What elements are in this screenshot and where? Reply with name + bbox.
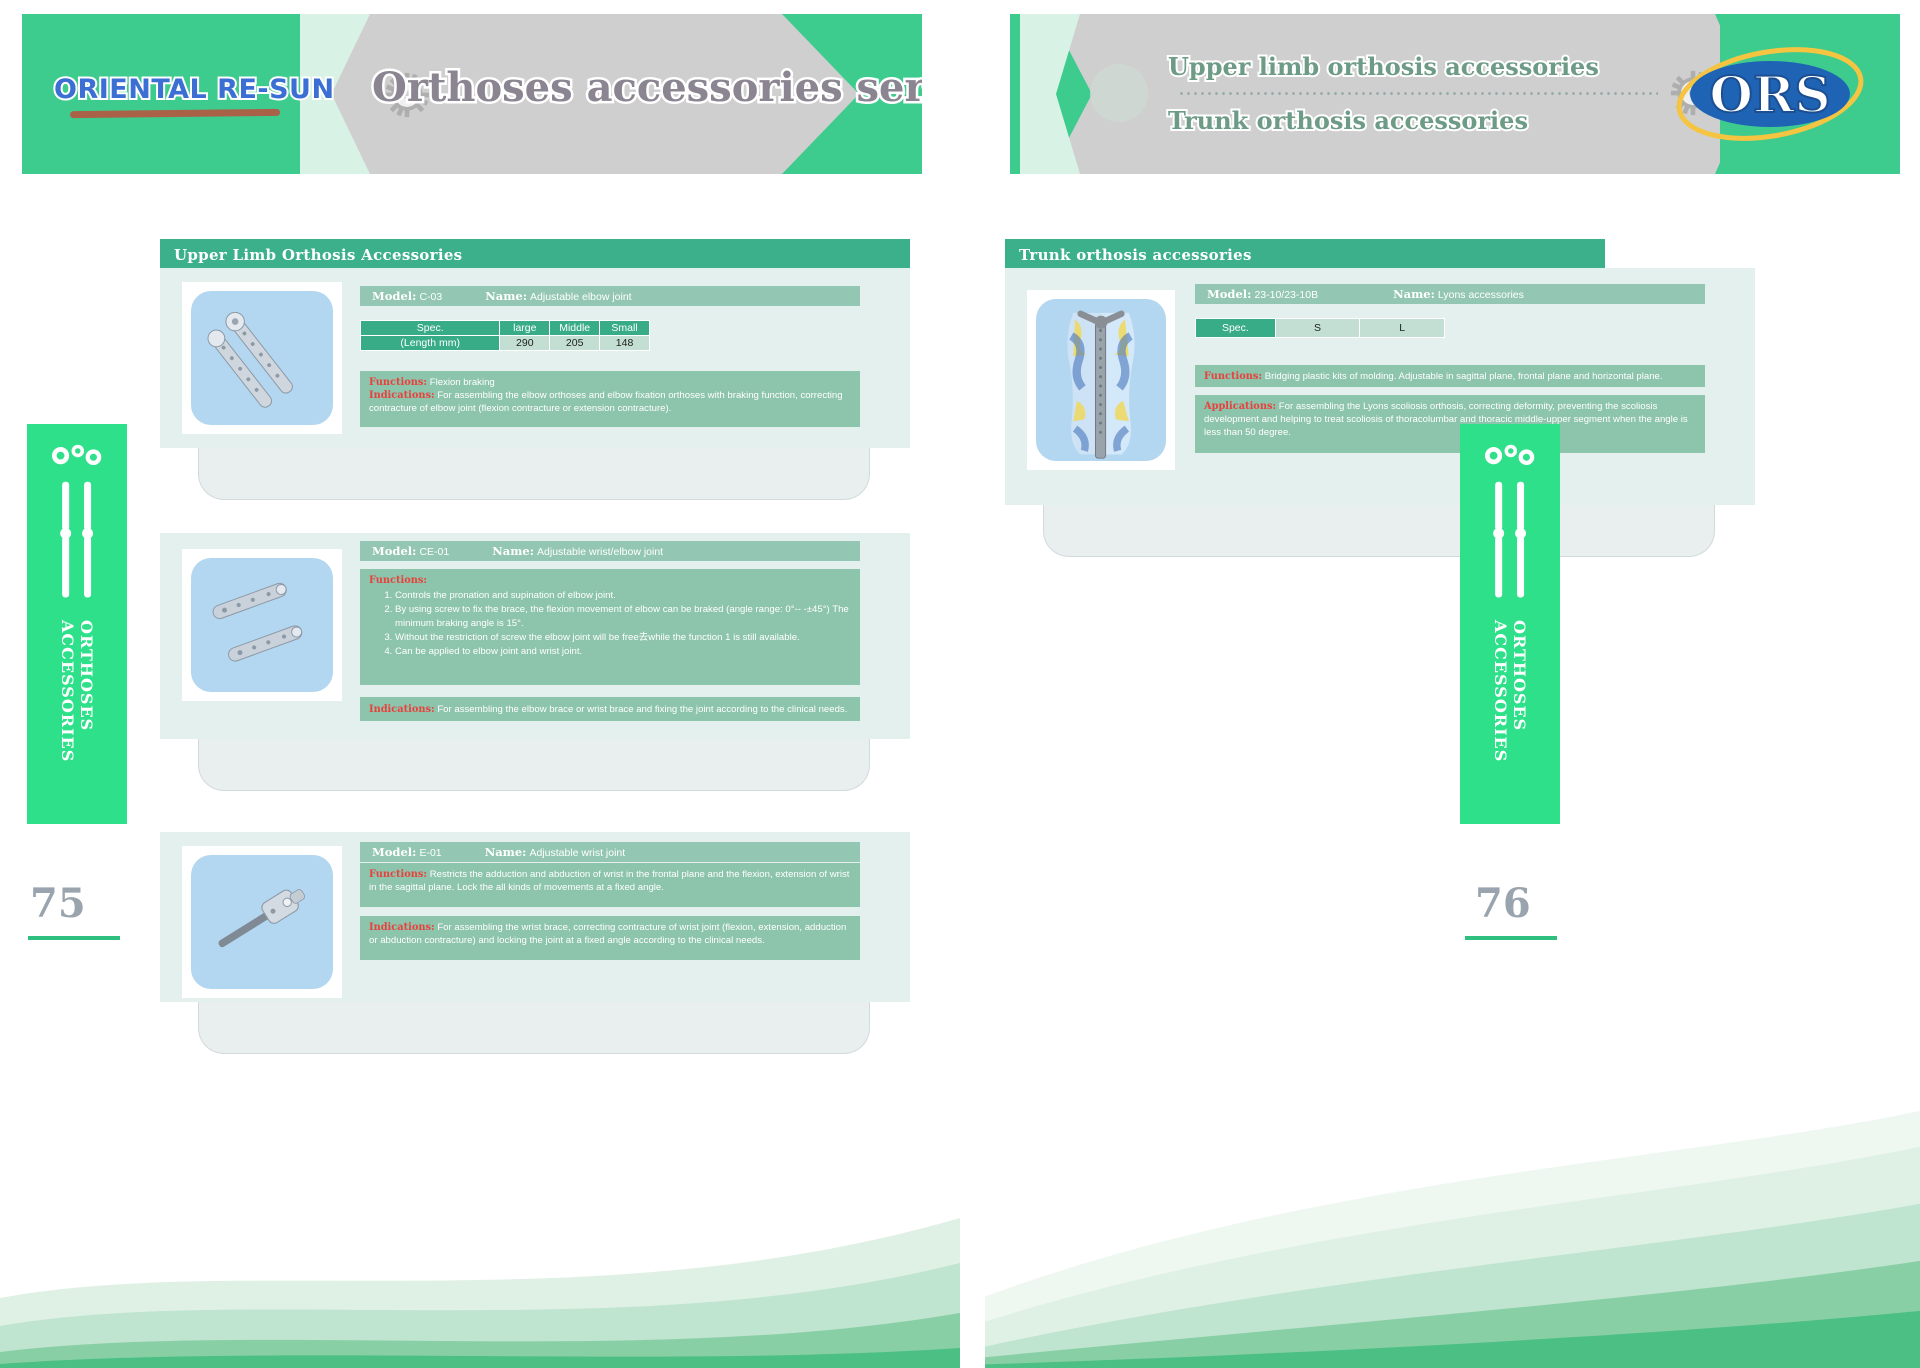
left-section-title: Upper Limb Orthosis Accessories	[160, 239, 910, 271]
product-photo-frame-3	[182, 846, 342, 998]
product-photo-ce01	[191, 558, 333, 692]
spec-header-row: Spec. large Middle Small	[361, 321, 650, 336]
card-shadow-trunk	[1043, 505, 1715, 557]
gear-cluster-icon	[40, 440, 114, 471]
indications-label-3: Indications:	[369, 922, 435, 933]
right-banner-title-2: Trunk orthosis accessories	[1168, 106, 1528, 135]
model-value-trunk: 23-10/23-10B	[1254, 289, 1318, 301]
model-bar-3: Model: E-01 Name: Adjustable wrist joint	[360, 842, 860, 862]
elbow-joint-illustration	[191, 291, 333, 425]
name-label-1: Name:	[485, 289, 527, 303]
functions-text-trunk: Bridging plastic kits of molding. Adjust…	[1265, 371, 1663, 382]
indications-text-3: For assembling the wrist brace, correcti…	[369, 922, 846, 946]
right-page-number: 76	[1475, 880, 1531, 927]
card-shadow-1	[198, 448, 870, 500]
right-header-banner: Upper limb orthosis accessories Trunk or…	[1010, 14, 1900, 174]
ors-logo: ORS	[1670, 44, 1870, 144]
model-label-1: Model:	[372, 289, 416, 303]
spec-header-trunk-2: L	[1360, 319, 1445, 338]
functions-block-3: Functions: Restricts the adduction and a…	[360, 863, 860, 907]
functions-indications-block-1: Functions: Flexion braking Indications: …	[360, 371, 860, 427]
model-value-1: C-03	[419, 291, 442, 303]
gear-cluster-icon-right	[1473, 440, 1547, 471]
functions-list-item: Without the restriction of screw the elb…	[395, 631, 852, 644]
product-card-lyons: Model: 23-10/23-10B Name: Lyons accessor…	[1005, 268, 1755, 505]
name-value-2: Adjustable wrist/elbow joint	[537, 546, 663, 558]
name-value-1: Adjustable elbow joint	[530, 291, 632, 303]
spec-value-row: (Length mm) 290 205 148	[361, 336, 650, 351]
indications-label-1: Indications:	[369, 390, 435, 401]
applications-text-trunk: For assembling the Lyons scoliosis ortho…	[1204, 401, 1688, 438]
functions-block-2: Functions: Controls the pronation and su…	[360, 569, 860, 685]
model-label-trunk: Model:	[1207, 287, 1251, 301]
functions-label-1: Functions:	[369, 377, 427, 388]
product-card-ce01: Model: CE-01 Name: Adjustable wrist/elbo…	[160, 533, 910, 739]
name-value-3: Adjustable wrist joint	[529, 847, 625, 859]
spec-table-lyons: Spec. S L	[1195, 318, 1445, 338]
ors-logo-text: ORS	[1709, 65, 1830, 124]
name-label-3: Name:	[485, 845, 527, 859]
banner-dot-separator	[1178, 92, 1658, 95]
right-page: Upper limb orthosis accessories Trunk or…	[985, 0, 1920, 1368]
orthosis-bars-icon-right	[1475, 477, 1545, 602]
model-value-3: E-01	[419, 847, 441, 859]
spec-value-0: 290	[500, 336, 550, 351]
left-side-tab-label: ORTHOSES ACCESSORIES	[58, 620, 96, 824]
functions-list-2: Controls the pronation and supination of…	[395, 589, 852, 658]
functions-label-2: Functions:	[369, 574, 852, 587]
model-bar-1: Model: C-03 Name: Adjustable elbow joint	[360, 286, 860, 306]
spec-value-1: 205	[550, 336, 600, 351]
card-shadow-2	[198, 739, 870, 791]
indications-block-3: Indications: For assembling the wrist br…	[360, 916, 860, 960]
name-label-2: Name:	[492, 544, 534, 558]
functions-text-1: Flexion braking	[430, 377, 495, 388]
left-banner-title: Orthoses accessories series	[372, 64, 922, 111]
functions-list-item: Can be applied to elbow joint and wrist …	[395, 645, 852, 658]
left-side-tab[interactable]: ORTHOSES ACCESSORIES	[27, 424, 127, 824]
banner-circle-decoration	[1090, 64, 1148, 122]
spec-row-label: (Length mm)	[361, 336, 500, 351]
spec-header-row-trunk: Spec. S L	[1196, 319, 1445, 338]
right-side-tab[interactable]: ORTHOSES ACCESSORIES	[1460, 424, 1560, 824]
indications-text-1: For assembling the elbow orthoses and el…	[369, 390, 843, 414]
model-bar-trunk: Model: 23-10/23-10B Name: Lyons accessor…	[1195, 284, 1705, 304]
spec-header-1: large	[500, 321, 550, 336]
product-photo-e01	[191, 855, 333, 989]
card-shadow-3	[198, 1002, 870, 1054]
lyons-brace-illustration	[1036, 299, 1166, 461]
model-label-3: Model:	[372, 845, 416, 859]
functions-list-item: Controls the pronation and supination of…	[395, 589, 852, 602]
functions-text-3: Restricts the adduction and abduction of…	[369, 869, 849, 893]
wrist-elbow-joint-illustration	[191, 558, 333, 692]
indications-text-2: For assembling the elbow brace or wrist …	[437, 704, 847, 715]
right-footer-waves	[985, 1068, 1920, 1368]
catalog-spread: ORIENTAL RE-SUN	[0, 0, 1920, 1368]
product-photo-lyons	[1036, 299, 1166, 461]
product-photo-frame-trunk	[1027, 290, 1175, 470]
spec-header-3: Small	[600, 321, 650, 336]
wrist-joint-illustration	[191, 855, 333, 989]
product-card-e01: Model: E-01 Name: Adjustable wrist joint…	[160, 832, 910, 1002]
spec-value-2: 148	[600, 336, 650, 351]
product-photo-frame-1	[182, 282, 342, 434]
applications-label-trunk: Applications:	[1204, 401, 1276, 412]
name-label-trunk: Name:	[1393, 287, 1435, 301]
model-label-2: Model:	[372, 544, 416, 558]
spec-header-0: Spec.	[361, 321, 500, 336]
name-value-trunk: Lyons accessories	[1438, 289, 1524, 301]
model-bar-2: Model: CE-01 Name: Adjustable wrist/elbo…	[360, 541, 860, 561]
functions-block-trunk: Functions: Bridging plastic kits of mold…	[1195, 365, 1705, 387]
right-section-title: Trunk orthosis accessories	[1005, 239, 1605, 271]
indications-label-2: Indications:	[369, 704, 435, 715]
functions-list-item: By using screw to fix the brace, the fle…	[395, 603, 852, 629]
product-photo-c03	[191, 291, 333, 425]
model-value-2: CE-01	[419, 546, 449, 558]
right-side-tab-label: ORTHOSES ACCESSORIES	[1491, 620, 1529, 824]
right-banner-title-1: Upper limb orthosis accessories	[1168, 52, 1599, 81]
left-page-rule	[28, 936, 120, 940]
functions-label-trunk: Functions:	[1204, 371, 1262, 382]
spec-header-trunk-1: S	[1275, 319, 1360, 338]
functions-label-3: Functions:	[369, 869, 427, 880]
left-footer-waves	[0, 1068, 960, 1368]
product-card-c03: Model: C-03 Name: Adjustable elbow joint…	[160, 268, 910, 448]
company-logo-text: ORIENTAL RE-SUN	[54, 74, 335, 105]
applications-block-trunk: Applications: For assembling the Lyons s…	[1195, 395, 1705, 453]
spec-table-c03: Spec. large Middle Small (Length mm) 290…	[360, 320, 650, 351]
functions-line-1: Functions: Flexion braking	[369, 376, 852, 389]
orthosis-bars-icon	[42, 477, 112, 602]
left-page-number: 75	[30, 880, 86, 927]
indications-block-2: Indications: For assembling the elbow br…	[360, 697, 860, 721]
spec-header-2: Middle	[550, 321, 600, 336]
left-header-banner: ORIENTAL RE-SUN	[22, 14, 922, 174]
left-page: ORIENTAL RE-SUN	[0, 0, 960, 1368]
product-photo-frame-2	[182, 549, 342, 701]
indications-line-1: Indications: For assembling the elbow or…	[369, 389, 852, 415]
spec-header-trunk-0: Spec.	[1196, 319, 1276, 338]
right-page-rule	[1465, 936, 1557, 940]
